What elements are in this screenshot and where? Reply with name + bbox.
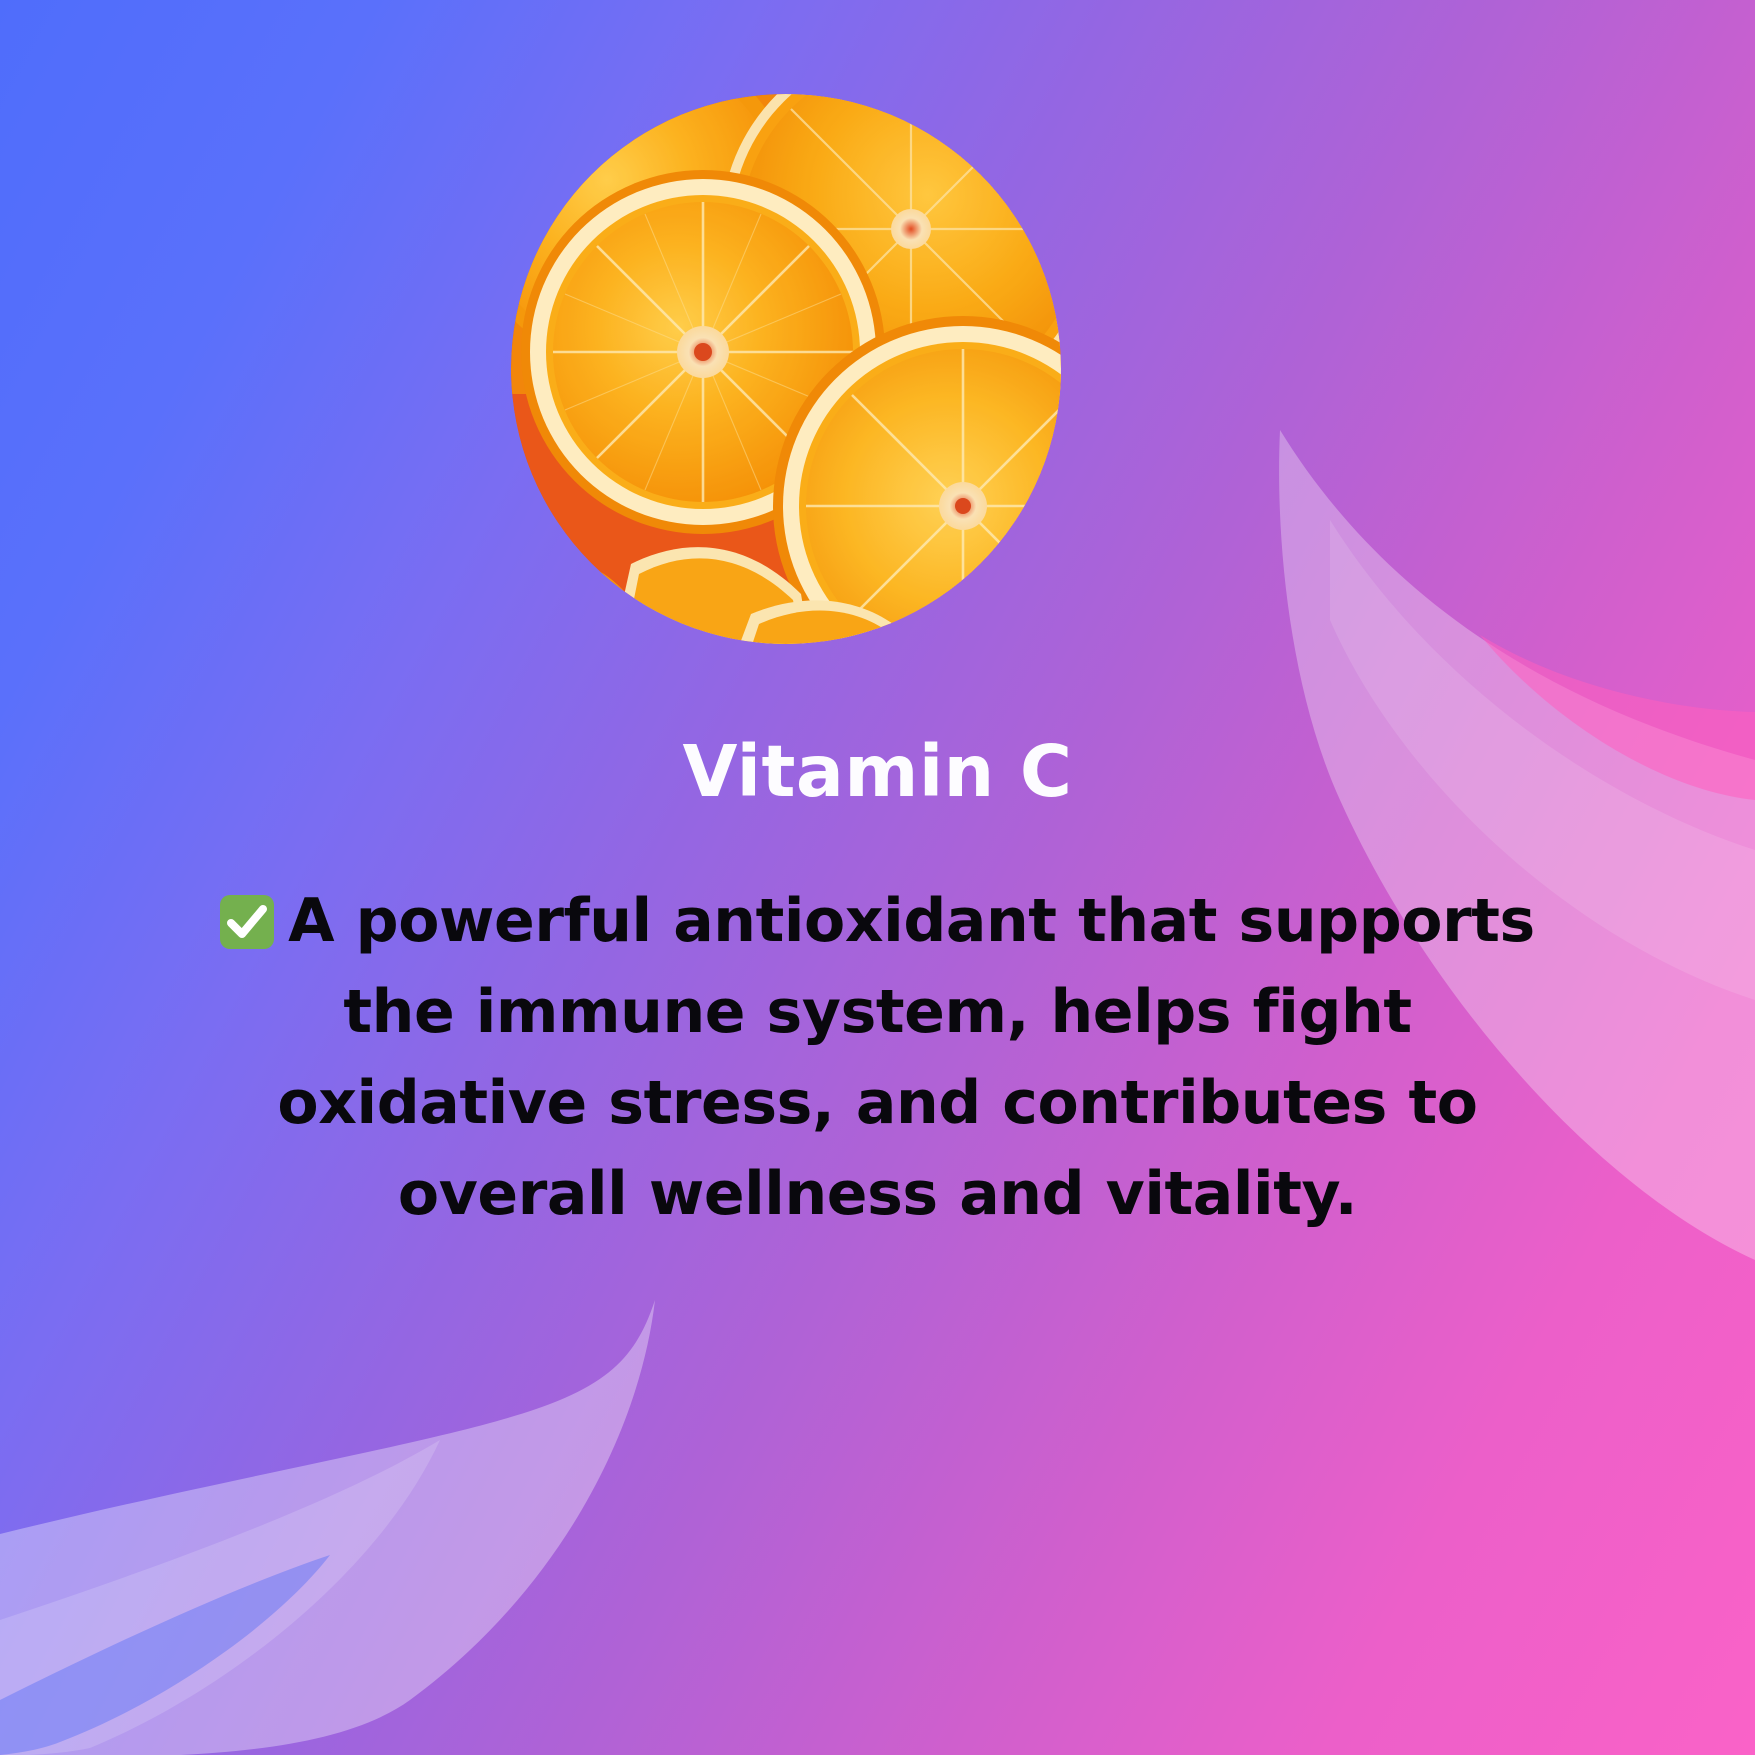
text-content: Vitamin C A powerful antioxidant that su…	[0, 735, 1755, 1240]
body-description: A powerful antioxidant that supports the…	[183, 876, 1573, 1241]
body-description-text: A powerful antioxidant that supports the…	[277, 886, 1534, 1230]
white-heavy-check-mark-icon	[220, 895, 274, 949]
decor-wing-bottom-faint	[0, 1440, 440, 1755]
orange-slices-photo	[511, 94, 1061, 644]
vitamin-c-info-card: Vitamin C A powerful antioxidant that su…	[0, 0, 1755, 1755]
decor-wing-bottom-light	[0, 1300, 655, 1755]
hero-image-circle	[511, 94, 1061, 644]
page-title: Vitamin C	[682, 735, 1072, 810]
decor-sliver-bottom	[0, 1555, 330, 1755]
